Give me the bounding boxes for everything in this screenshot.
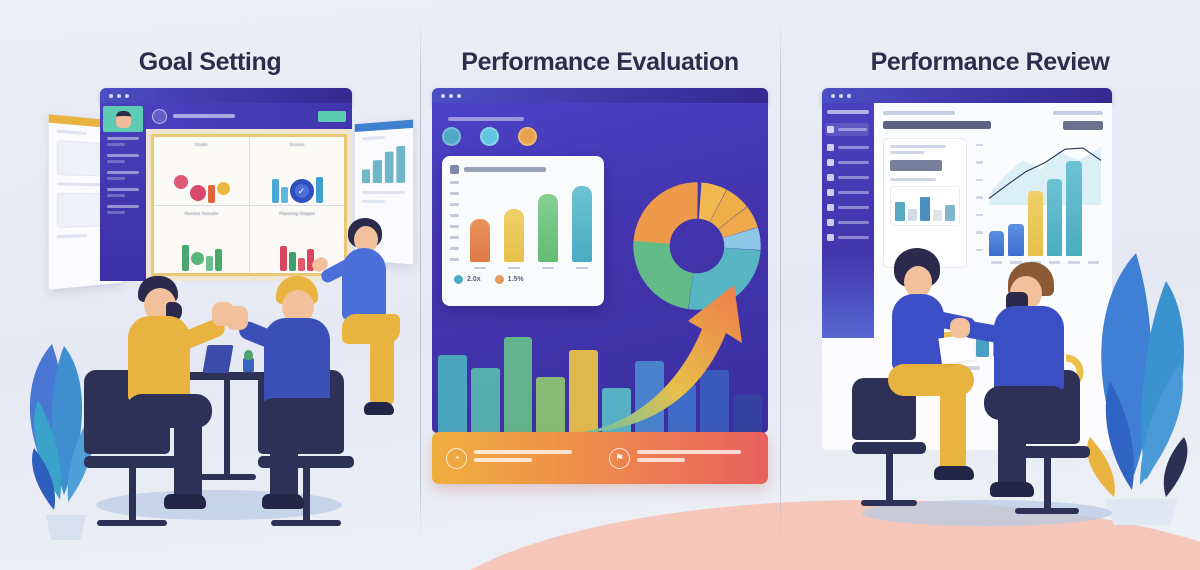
illustration-canvas: Goal Setting: [0, 0, 1200, 570]
window-dot-icon[interactable]: [839, 94, 843, 98]
page-title: [883, 121, 991, 129]
chart-legend: 2.0x 1.5%: [450, 275, 596, 284]
quadrant-label: Scores: [254, 142, 340, 148]
bubble-cluster-art: [154, 161, 249, 203]
dashboard-section-label: [448, 117, 524, 121]
kpi-caption: [890, 145, 946, 148]
nav-item[interactable]: [107, 154, 139, 157]
nav-item[interactable]: [107, 177, 125, 180]
users-icon: [827, 144, 834, 151]
evaluation-footer-bar: ◔ ⚑: [432, 432, 768, 484]
sidebar-brand: [827, 110, 869, 114]
sidebar-item-dashboard[interactable]: [825, 123, 869, 136]
bar: [538, 194, 558, 262]
app-topbar-title: [173, 114, 235, 118]
bar: [1028, 191, 1043, 256]
chart-icon: [450, 165, 459, 174]
bubble-icon: [174, 175, 188, 189]
legend-entry: 1.5%: [495, 275, 524, 284]
evaluation-bar-chart-card[interactable]: 2.0x 1.5%: [442, 156, 604, 306]
chart-card-header: [450, 165, 596, 174]
sidebar-item-reviews[interactable]: [827, 159, 869, 166]
quadrant-label: Planning Stages: [254, 211, 340, 217]
board-quadrant-scores: Scores ✓: [249, 137, 344, 205]
app-logo-icon: [152, 109, 167, 124]
sidebar-item-label: [838, 161, 869, 164]
bar: [1008, 224, 1023, 255]
window-dot-icon[interactable]: [125, 94, 129, 98]
sidebar-nav[interactable]: [103, 137, 143, 149]
chart-title: [464, 167, 546, 172]
nav-item[interactable]: [107, 160, 125, 163]
header-meta-label: [1053, 111, 1103, 115]
kpi-caption: [890, 151, 924, 154]
sidebar-item-feedback[interactable]: [827, 204, 869, 211]
window-dot-icon[interactable]: [449, 94, 453, 98]
bar: [504, 209, 524, 262]
footer-item[interactable]: ⚑: [609, 448, 754, 469]
evaluation-app-window[interactable]: 2.0x 1.5%: [432, 88, 768, 433]
sidebar-item-label: [838, 206, 869, 209]
review-kpi-mini-chart: [890, 186, 960, 226]
document-accent-bar: [355, 120, 413, 132]
badge-icon: ⚑: [609, 448, 630, 469]
panel-title-performance-evaluation: Performance Evaluation: [420, 48, 780, 77]
nav-item[interactable]: [107, 205, 139, 208]
window-titlebar: [822, 88, 1112, 103]
quadrant-label: Review Results: [158, 211, 245, 217]
sidebar-item-help[interactable]: [827, 234, 869, 241]
person-seated-right: [252, 276, 362, 516]
bar: [1047, 179, 1062, 255]
sidebar-nav[interactable]: [103, 171, 143, 183]
window-dot-icon[interactable]: [831, 94, 835, 98]
nav-item[interactable]: [107, 188, 139, 191]
sidebar-item-settings[interactable]: [827, 219, 869, 226]
footer-item[interactable]: ◔: [446, 448, 591, 469]
flag-icon: [827, 174, 834, 181]
kpi-card[interactable]: [883, 138, 967, 268]
bar: [470, 219, 490, 262]
chart-y-axis: [976, 144, 986, 252]
person-employee-man: [980, 262, 1100, 522]
water-drop-icon: [480, 127, 499, 146]
review-papers-icon: [938, 334, 975, 364]
evaluation-dashboard: 2.0x 1.5%: [432, 103, 768, 433]
target-icon: ✓: [290, 179, 314, 203]
board-quadrant-review-results: Review Results: [154, 205, 249, 273]
bubble-icon: [217, 182, 230, 195]
home-icon: [827, 126, 834, 133]
kpi-stat[interactable]: [518, 127, 542, 146]
help-icon: [827, 234, 834, 241]
document-bar-chart: [362, 146, 405, 183]
document-line: [362, 136, 385, 140]
document-line: [57, 234, 87, 238]
sidebar-nav[interactable]: [103, 205, 143, 217]
document-line: [362, 200, 385, 203]
kpi-stat[interactable]: [480, 127, 504, 146]
document-line: [362, 191, 405, 194]
window-dot-icon[interactable]: [441, 94, 445, 98]
bubble-icon: [190, 185, 206, 201]
sidebar-item-label: [838, 221, 869, 224]
quadrant-label: Goals: [158, 142, 245, 148]
nav-item[interactable]: [107, 171, 139, 174]
review-header-right: [1053, 111, 1103, 130]
board-quadrant-goals: Goals: [154, 137, 249, 205]
sidebar-item-reports[interactable]: [827, 189, 869, 196]
chart-bars: [465, 179, 596, 271]
sidebar-item-label: [838, 128, 867, 131]
nav-item[interactable]: [107, 143, 125, 146]
sidebar-item-label: [838, 146, 869, 149]
panel-title-goal-setting: Goal Setting: [0, 48, 420, 77]
window-dot-icon[interactable]: [847, 94, 851, 98]
topbar-action-button[interactable]: [318, 111, 346, 122]
goal-setting-app-window[interactable]: Goals Scores: [100, 88, 352, 281]
legend-swatch: [454, 275, 463, 284]
breadcrumb: [883, 111, 955, 115]
window-titlebar: [100, 88, 352, 103]
document-line: [57, 130, 87, 135]
chart-plot-area: [450, 179, 596, 271]
kpi-value: [890, 160, 942, 171]
legend-label: 2.0x: [467, 276, 481, 283]
chat-icon: [827, 204, 834, 211]
bar-icon: [208, 185, 215, 203]
window-titlebar: [432, 88, 768, 103]
chart-y-axis: [450, 179, 465, 271]
app-topbar: [146, 103, 352, 129]
sidebar-item-goals[interactable]: [827, 174, 869, 181]
bubble-icon: [191, 252, 204, 265]
chart-icon: [827, 189, 834, 196]
review-sidebar[interactable]: [822, 103, 874, 353]
window-dot-icon[interactable]: [457, 94, 461, 98]
nav-item[interactable]: [107, 137, 139, 140]
window-dot-icon[interactable]: [117, 94, 121, 98]
legend-label: 1.5%: [508, 276, 524, 283]
gear-icon: [827, 219, 834, 226]
growth-arrow-icon: [584, 233, 764, 433]
legend-entry: 2.0x: [454, 275, 481, 284]
target-and-bars-art: ✓: [250, 161, 344, 203]
chair-base: [97, 520, 167, 526]
avatar[interactable]: [103, 106, 143, 132]
sidebar-nav[interactable]: [103, 188, 143, 200]
panel-goal-setting: Goal Setting: [0, 0, 420, 570]
nav-item[interactable]: [107, 211, 125, 214]
star-icon: [827, 159, 834, 166]
sidebar-item-employees[interactable]: [827, 144, 869, 151]
sidebar-item-label: [838, 191, 869, 194]
footer-item-text: [637, 450, 741, 466]
window-dot-icon[interactable]: [109, 94, 113, 98]
person-seated-left: [124, 276, 234, 516]
user-circle-icon: [518, 127, 537, 146]
clock-icon: ◔: [446, 448, 467, 469]
sidebar-nav[interactable]: [103, 154, 143, 166]
score-value: [1063, 121, 1103, 130]
sidebar-item-label: [838, 176, 869, 179]
legend-swatch: [495, 275, 504, 284]
sidebar-item-label: [838, 236, 869, 239]
panel-title-performance-review: Performance Review: [780, 48, 1200, 77]
avatar-face-icon: [116, 111, 131, 128]
bar-group-art: [154, 229, 249, 271]
kpi-sub-label: [890, 178, 936, 181]
kpi-stat-row: [442, 127, 758, 146]
kpi-stat[interactable]: [442, 127, 466, 146]
window-body: Goals Scores: [100, 103, 352, 281]
footer-item-text: [474, 450, 572, 466]
panel-performance-evaluation: Performance Evaluation: [420, 0, 780, 570]
target-icon: [442, 127, 461, 146]
nav-item[interactable]: [107, 194, 125, 197]
panel-performance-review: Performance Review: [780, 0, 1200, 570]
chair-base: [271, 520, 341, 526]
